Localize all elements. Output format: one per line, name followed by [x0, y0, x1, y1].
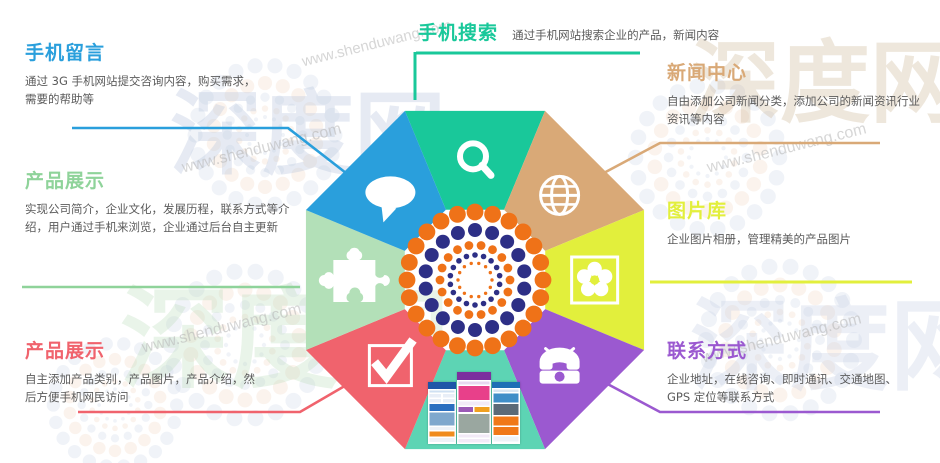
center-mandala-logo [392, 197, 558, 363]
infographic-canvas: 深度网 深度网 深度网 深度网 www.shenduwang.com www.s… [0, 0, 940, 463]
phone-shot-3 [492, 382, 520, 444]
phone-shot-2 [457, 372, 491, 444]
phone-shot-1 [428, 382, 456, 444]
phone-screenshots-group [428, 372, 520, 444]
